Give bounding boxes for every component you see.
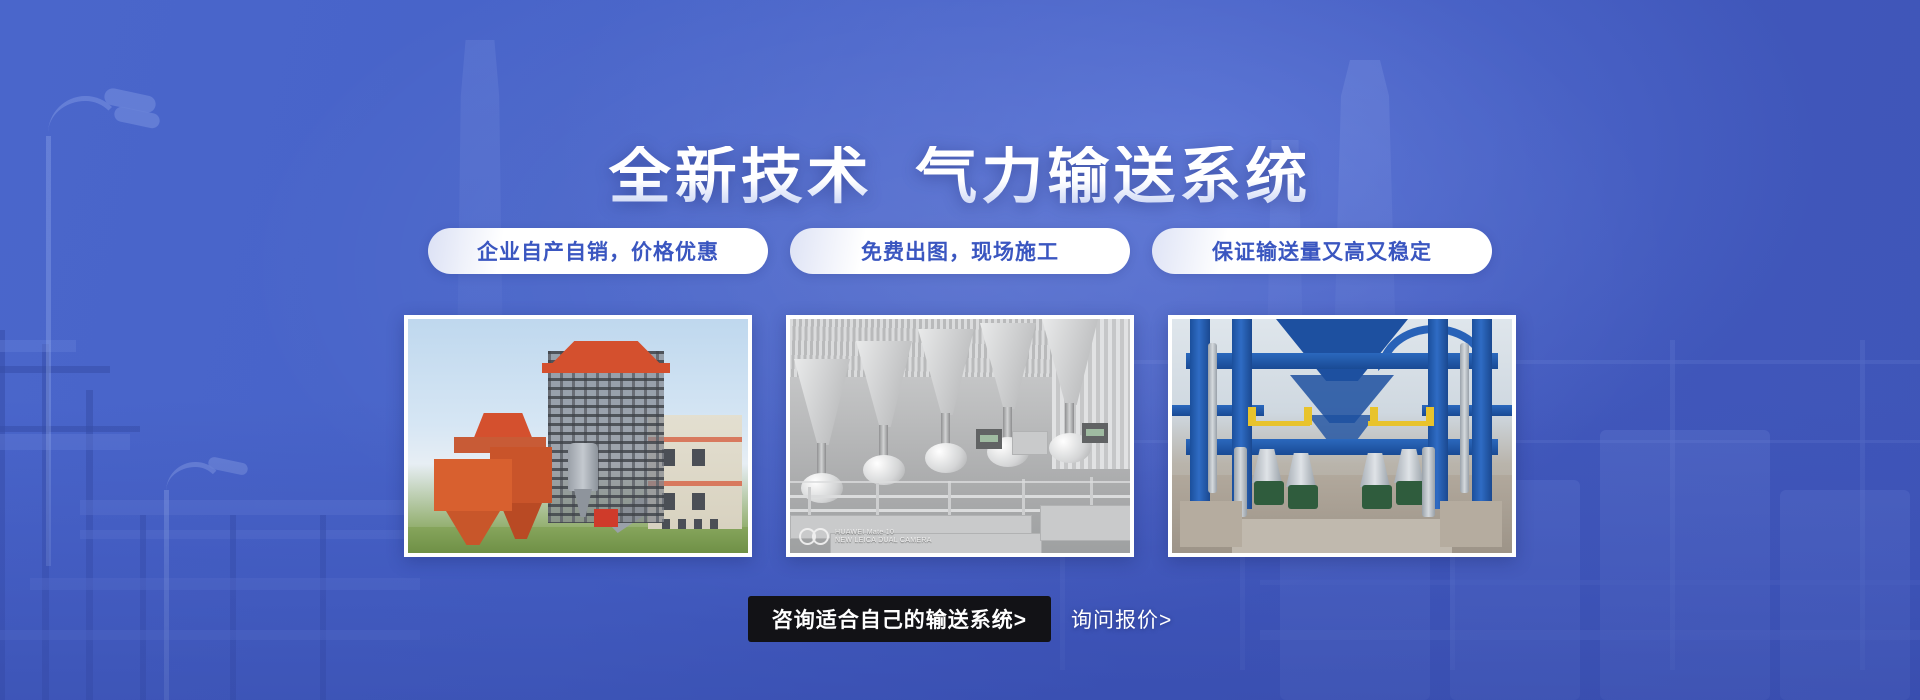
photo-watermark: HUAWEI Mate 10 NEW LEICA DUAL CAMERA	[799, 528, 932, 545]
hero-banner: 全新技术 气力输送系统 企业自产自销，价格优惠 免费出图，现场施工 保证输送量又…	[0, 0, 1920, 700]
gallery-photo-2-image: HUAWEI Mate 10 NEW LEICA DUAL CAMERA	[790, 319, 1130, 553]
feature-badge-3-label: 保证输送量又高又稳定	[1212, 236, 1432, 266]
consult-system-button[interactable]: 咨询适合自己的输送系统>	[748, 596, 1051, 642]
photo-gallery: HUAWEI Mate 10 NEW LEICA DUAL CAMERA	[0, 315, 1920, 557]
watermark-line-2: NEW LEICA DUAL CAMERA	[835, 537, 932, 544]
cta-row: 咨询适合自己的输送系统> 询问报价>	[0, 596, 1920, 642]
ask-quote-link[interactable]: 询问报价>	[1071, 604, 1172, 634]
gallery-photo-3-image	[1172, 319, 1512, 553]
leica-rings-icon	[799, 528, 829, 545]
feature-badge-2-label: 免费出图，现场施工	[861, 236, 1059, 266]
gallery-photo-1[interactable]	[404, 315, 752, 557]
gallery-photo-2[interactable]: HUAWEI Mate 10 NEW LEICA DUAL CAMERA	[786, 315, 1134, 557]
gallery-photo-3[interactable]	[1168, 315, 1516, 557]
feature-badge-1-label: 企业自产自销，价格优惠	[477, 236, 719, 266]
feature-badge-3: 保证输送量又高又稳定	[1152, 228, 1492, 274]
feature-badge-list: 企业自产自销，价格优惠 免费出图，现场施工 保证输送量又高又稳定	[0, 228, 1920, 274]
banner-content: 全新技术 气力输送系统 企业自产自销，价格优惠 免费出图，现场施工 保证输送量又…	[0, 0, 1920, 700]
gallery-photo-1-image	[408, 319, 748, 553]
feature-badge-1: 企业自产自销，价格优惠	[428, 228, 768, 274]
feature-badge-2: 免费出图，现场施工	[790, 228, 1130, 274]
page-title: 全新技术 气力输送系统	[0, 146, 1920, 208]
watermark-line-1: HUAWEI Mate 10	[835, 529, 894, 536]
